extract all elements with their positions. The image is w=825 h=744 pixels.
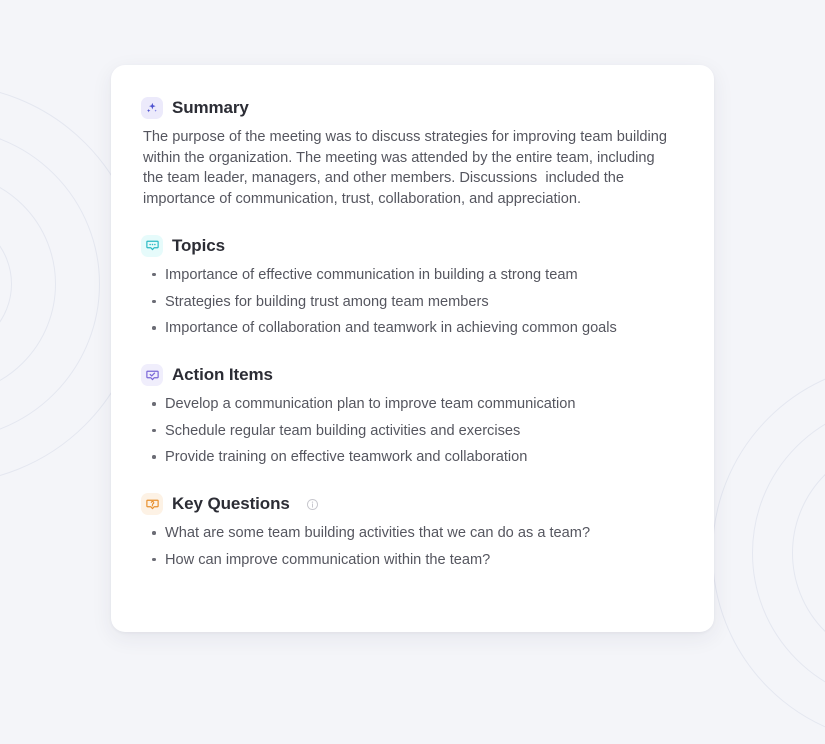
section-title: Topics bbox=[172, 236, 225, 256]
info-circle-icon[interactable] bbox=[306, 498, 319, 511]
sparkle-icon bbox=[141, 97, 163, 119]
summary-paragraph: The purpose of the meeting was to discus… bbox=[141, 127, 668, 210]
list-item: Importance of effective communication in… bbox=[141, 265, 684, 286]
section-header-summary: Summary bbox=[141, 97, 684, 119]
section-summary: Summary The purpose of the meeting was t… bbox=[141, 97, 684, 210]
section-key-questions: Key Questions What are some team buildin… bbox=[141, 493, 684, 570]
chat-question-icon bbox=[141, 493, 163, 515]
key-questions-list: What are some team building activities t… bbox=[141, 523, 684, 570]
topics-list: Importance of effective communication in… bbox=[141, 265, 684, 339]
list-item: How can improve communication within the… bbox=[141, 550, 684, 571]
section-topics: Topics Importance of effective communica… bbox=[141, 235, 684, 339]
section-title: Action Items bbox=[172, 365, 273, 385]
decorative-ring bbox=[792, 442, 825, 664]
section-action-items: Action Items Develop a communication pla… bbox=[141, 364, 684, 468]
list-item: Importance of collaboration and teamwork… bbox=[141, 318, 684, 339]
section-header-key-questions: Key Questions bbox=[141, 493, 684, 515]
list-item: Develop a communication plan to improve … bbox=[141, 394, 684, 415]
chat-check-icon bbox=[141, 364, 163, 386]
section-title: Summary bbox=[172, 98, 249, 118]
list-item: Schedule regular team building activitie… bbox=[141, 421, 684, 442]
section-header-topics: Topics bbox=[141, 235, 684, 257]
list-item: What are some team building activities t… bbox=[141, 523, 684, 544]
section-title: Key Questions bbox=[172, 494, 290, 514]
decorative-ring bbox=[0, 172, 56, 396]
decorative-ring bbox=[712, 362, 825, 744]
chat-dots-icon bbox=[141, 235, 163, 257]
section-header-action-items: Action Items bbox=[141, 364, 684, 386]
action-items-list: Develop a communication plan to improve … bbox=[141, 394, 684, 468]
meeting-summary-card: Summary The purpose of the meeting was t… bbox=[111, 65, 714, 632]
list-item: Provide training on effective teamwork a… bbox=[141, 447, 684, 468]
decorative-ring bbox=[752, 402, 825, 704]
decorative-ring bbox=[0, 128, 100, 440]
decorative-ring bbox=[0, 216, 12, 352]
list-item: Strategies for building trust among team… bbox=[141, 292, 684, 313]
